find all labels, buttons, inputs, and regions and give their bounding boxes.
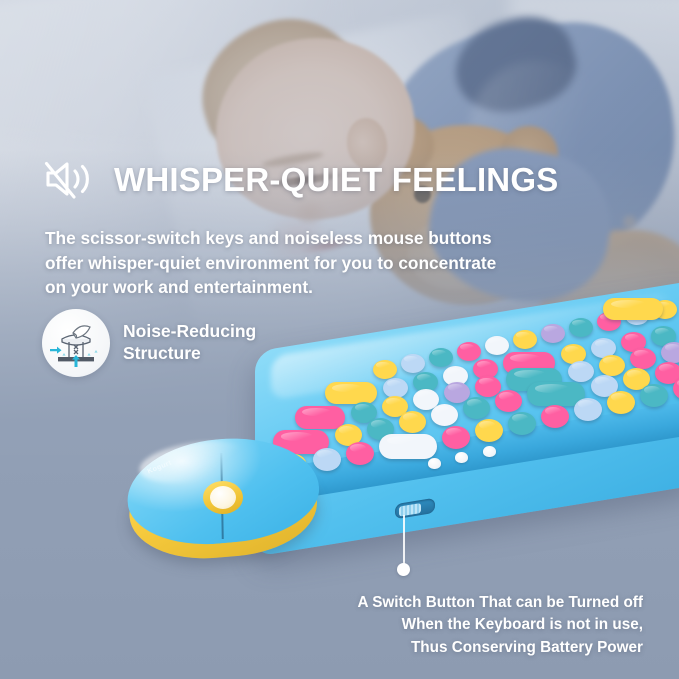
keycap[interactable] — [399, 411, 426, 433]
keycap[interactable] — [568, 361, 594, 382]
keycap[interactable] — [401, 354, 425, 373]
keycap[interactable] — [541, 324, 565, 343]
keycap[interactable] — [508, 412, 536, 435]
mute-speaker-icon — [44, 157, 100, 201]
keycap[interactable] — [599, 355, 625, 376]
keycap[interactable] — [431, 404, 458, 426]
mouse-scroll-wheel[interactable] — [210, 486, 236, 509]
keycap[interactable] — [603, 298, 663, 320]
keycap[interactable] — [475, 419, 503, 442]
keycap[interactable] — [495, 390, 522, 412]
indicator-led — [483, 446, 496, 457]
keycap[interactable] — [383, 378, 408, 398]
feature-badge-label-line-2: Structure — [123, 343, 256, 365]
keycap[interactable] — [574, 398, 602, 421]
keycap[interactable] — [607, 391, 635, 414]
page-title: WHISPER-QUIET FEELINGS — [114, 163, 558, 196]
keycap[interactable] — [442, 426, 470, 449]
callout-line-3: Thus Conserving Battery Power — [357, 637, 643, 659]
callout-caption: A Switch Button That can be Turned off W… — [357, 592, 643, 659]
keycap[interactable] — [373, 360, 397, 379]
keycap[interactable] — [457, 342, 481, 361]
keycap[interactable] — [463, 397, 490, 419]
keycap[interactable] — [661, 342, 679, 363]
indicator-led — [455, 452, 468, 463]
indicator-led — [428, 458, 441, 469]
headline-row: WHISPER-QUIET FEELINGS — [44, 157, 558, 201]
keycap[interactable] — [295, 406, 345, 429]
body-copy-line-1: The scissor-switch keys and noiseless mo… — [45, 226, 545, 251]
keycap[interactable] — [485, 336, 509, 355]
keycap[interactable] — [379, 434, 437, 459]
keycap[interactable] — [346, 442, 374, 465]
keycap[interactable] — [513, 330, 537, 349]
keycap[interactable] — [569, 318, 593, 337]
callout-line-1: A Switch Button That can be Turned off — [357, 592, 643, 614]
marketing-banner: WHISPER-QUIET FEELINGS The scissor-switc… — [0, 0, 679, 679]
keycap[interactable] — [325, 382, 377, 404]
callout-leader-line — [403, 515, 405, 567]
keycap[interactable] — [630, 348, 656, 369]
keycap[interactable] — [640, 384, 668, 407]
feature-badge-label: Noise-Reducing Structure — [123, 321, 256, 365]
wireless-mouse: Kogurt — [125, 437, 321, 559]
callout-line-2: When the Keyboard is not in use, — [357, 614, 643, 636]
feature-badge: Noise-Reducing Structure — [42, 309, 256, 377]
callout-dot — [397, 563, 410, 576]
keycap[interactable] — [429, 348, 453, 367]
key-switch-cross-section-icon — [42, 309, 110, 377]
feature-badge-label-line-1: Noise-Reducing — [123, 321, 256, 343]
keycap[interactable] — [541, 405, 569, 428]
